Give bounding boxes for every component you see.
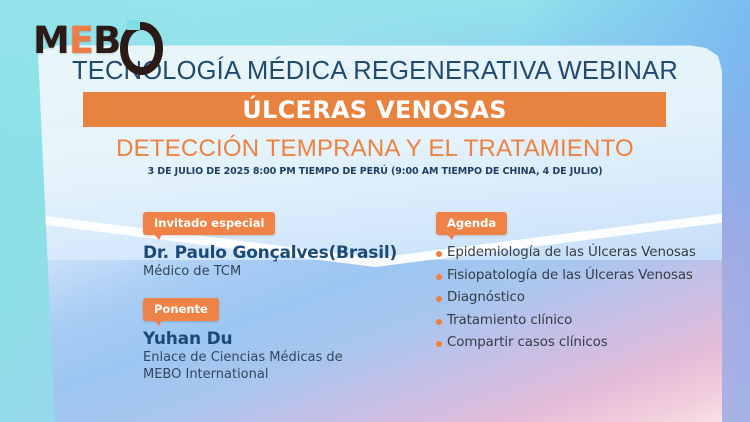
badge-invitado-especial: Invitado especial: [143, 212, 275, 235]
speaker-role-presenter-line2: MEBO International: [143, 367, 413, 383]
speaker-name-presenter: Yuhan Du: [143, 329, 413, 349]
list-item: Fisiopatología de las Úlceras Venosas: [436, 268, 726, 283]
list-item: Epidemiología de las Úlceras Venosas: [436, 245, 726, 260]
speaker-name-guest: Dr. Paulo Gonçalves(Brasil): [143, 243, 413, 263]
agenda-item-label: Diagnóstico: [447, 290, 525, 305]
speakers-column: Invitado especial Dr. Paulo Gonçalves(Br…: [143, 212, 413, 399]
agenda-list: Epidemiología de las Úlceras Venosas Fis…: [436, 245, 726, 350]
logo-letter-e: E: [69, 22, 93, 59]
logo-letter-o: [120, 22, 147, 59]
bullet-icon: [436, 296, 442, 302]
main-topic-label: ÚLCERAS VENOSAS: [242, 96, 507, 124]
subtitle: DETECCIÓN TEMPRANA Y EL TRATAMIENTO: [0, 135, 750, 163]
speaker-role-presenter-line1: Enlace de Ciencias Médicas de: [143, 350, 413, 366]
agenda-column: Agenda Epidemiología de las Úlceras Veno…: [436, 212, 726, 358]
agenda-item-label: Epidemiología de las Úlceras Venosas: [447, 245, 696, 260]
poster-content: TECNOLOGÍA MÉDICA REGENERATIVA WEBINAR Ú…: [0, 0, 750, 422]
speaker-role-guest: Médico de TCM: [143, 264, 413, 280]
agenda-item-label: Fisiopatología de las Úlceras Venosas: [447, 268, 693, 283]
list-item: Compartir casos clínicos: [436, 335, 726, 350]
logo-letter-m: M: [33, 22, 69, 59]
badge-ponente: Ponente: [143, 298, 219, 321]
speaker-block-guest: Invitado especial Dr. Paulo Gonçalves(Br…: [143, 212, 413, 280]
speaker-block-presenter: Ponente Yuhan Du Enlace de Ciencias Médi…: [143, 298, 413, 383]
bullet-icon: [436, 274, 442, 280]
logo-letter-b: B: [93, 22, 120, 59]
bullet-icon: [436, 319, 442, 325]
agenda-item-label: Tratamiento clínico: [447, 313, 572, 328]
mebo-logo: MEB: [33, 22, 147, 59]
main-topic-banner: ÚLCERAS VENOSAS: [83, 92, 666, 127]
list-item: Diagnóstico: [436, 290, 726, 305]
event-datetime: 3 DE JULIO DE 2025 8:00 PM TIEMPO DE PER…: [0, 166, 750, 177]
bullet-icon: [436, 251, 442, 257]
bullet-icon: [436, 341, 442, 347]
badge-agenda: Agenda: [436, 212, 507, 235]
list-item: Tratamiento clínico: [436, 313, 726, 328]
agenda-item-label: Compartir casos clínicos: [447, 335, 608, 350]
